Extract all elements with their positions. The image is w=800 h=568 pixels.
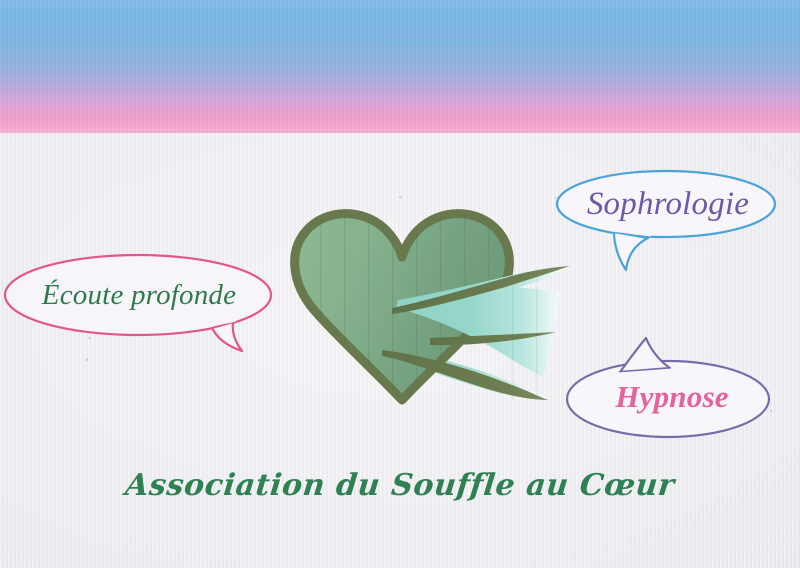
gradient-sky-band <box>0 0 800 133</box>
speech-bubble-hypnose[interactable]: Hypnose <box>564 334 780 442</box>
poster-canvas: Écoute profonde Sophrologie Hypnose Asso… <box>0 0 800 568</box>
speech-bubble-ecoute-profonde[interactable]: Écoute profonde <box>2 252 276 356</box>
bubble-label-sophrologie: Sophrologie <box>552 168 784 240</box>
speech-bubble-sophrologie[interactable]: Sophrologie <box>552 168 784 278</box>
association-name: Association du Souffle au Cœur <box>0 468 800 503</box>
bubble-label-hypnose: Hypnose <box>564 356 780 438</box>
bubble-label-ecoute-profonde: Écoute profonde <box>2 252 276 338</box>
heart-with-breath-logo <box>280 200 580 415</box>
